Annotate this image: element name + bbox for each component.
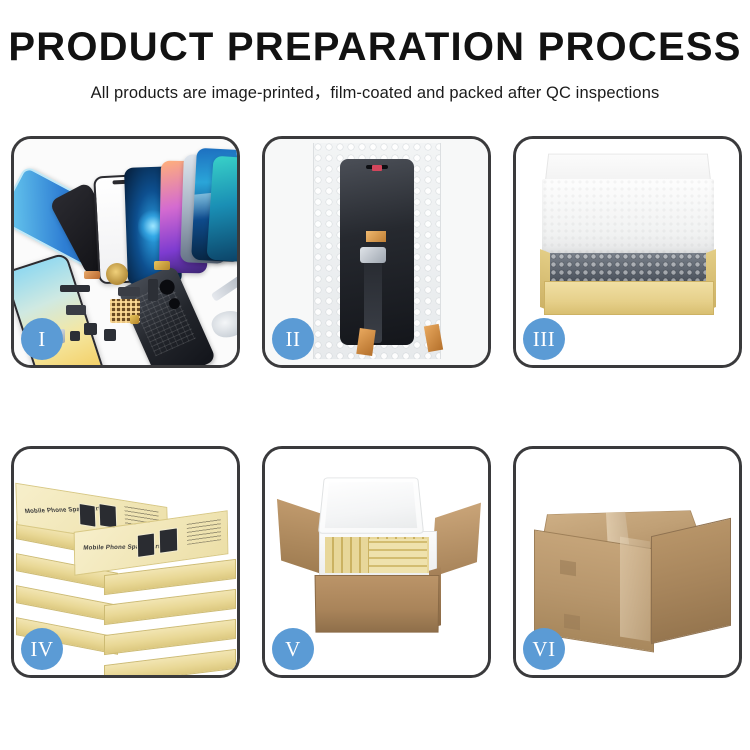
gold-box-front bbox=[544, 281, 714, 315]
chip-part bbox=[66, 305, 86, 315]
flex-cable-part bbox=[60, 285, 90, 292]
carton-front-wall bbox=[315, 575, 440, 633]
packed-gold-boxes-row2 bbox=[369, 539, 427, 573]
step-panel-6[interactable]: VI bbox=[513, 446, 742, 678]
stacked-box bbox=[104, 619, 236, 655]
bubble-wrap-bag bbox=[313, 143, 441, 359]
step-badge-1: I bbox=[21, 318, 63, 360]
adhesive-tape-left bbox=[356, 328, 375, 356]
stacked-box bbox=[16, 585, 118, 623]
stacked-box bbox=[104, 649, 236, 675]
page-title: PRODUCT PREPARATION PROCESS bbox=[0, 26, 750, 68]
lcd-connector bbox=[360, 247, 386, 263]
page-header: PRODUCT PREPARATION PROCESS All products… bbox=[0, 0, 750, 103]
step-panel-2[interactable]: II bbox=[262, 136, 491, 368]
step-panel-5[interactable]: V bbox=[262, 446, 491, 678]
foam-lid bbox=[318, 478, 424, 534]
adhesive-tape-right bbox=[424, 324, 443, 352]
gold-flex-part bbox=[154, 261, 170, 270]
camera-module-part bbox=[84, 323, 97, 335]
box-thumbnail bbox=[159, 527, 178, 554]
white-foam-pad bbox=[542, 179, 714, 255]
button-flex-part bbox=[148, 279, 158, 301]
carton-patch-upper bbox=[560, 560, 576, 577]
copper-contact-part bbox=[84, 271, 100, 279]
step-panel-1[interactable]: I bbox=[11, 136, 240, 368]
box-thumbnail bbox=[137, 532, 155, 557]
packing-tape-front bbox=[620, 537, 650, 642]
sealed-carton bbox=[524, 465, 730, 655]
stacked-box bbox=[104, 589, 236, 625]
ribbon-part bbox=[118, 287, 140, 296]
step-badge-2: II bbox=[272, 318, 314, 360]
process-steps-grid: I II III bbox=[11, 136, 739, 678]
carton-patch-lower bbox=[564, 614, 580, 631]
step-panel-4[interactable]: Mobile Phone Spare Parts Mobile Phone Sp… bbox=[11, 446, 240, 678]
step-badge-6: VI bbox=[523, 628, 565, 670]
step-panel-3[interactable]: III bbox=[513, 136, 742, 368]
sensor-part bbox=[70, 331, 80, 341]
page-subtitle: All products are image-printed，film-coat… bbox=[0, 79, 750, 103]
step-badge-4: IV bbox=[21, 628, 63, 670]
box-spec-lines bbox=[187, 518, 221, 545]
screw-set-part bbox=[130, 315, 139, 324]
step-badge-5: V bbox=[272, 628, 314, 670]
carton-right-face bbox=[651, 518, 731, 644]
adhesive-tape-top bbox=[366, 231, 386, 242]
step-badge-3: III bbox=[523, 318, 565, 360]
box-thumbnail bbox=[79, 503, 97, 528]
vibrator-part bbox=[104, 329, 116, 341]
speaker-coil-part bbox=[106, 263, 128, 285]
red-label-tab bbox=[372, 165, 382, 171]
